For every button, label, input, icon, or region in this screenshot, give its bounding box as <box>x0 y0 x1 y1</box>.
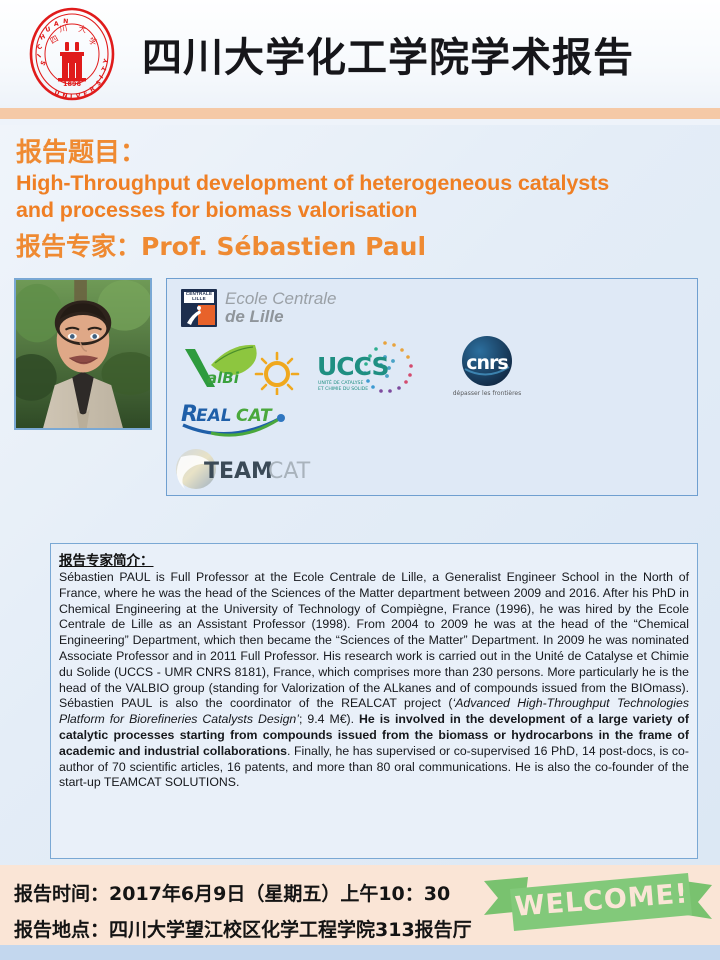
centrale-lille-mark-icon: CENTRALE LILLE <box>181 289 217 327</box>
svg-text:I: I <box>70 93 73 100</box>
svg-text:TEAM: TEAM <box>204 459 273 484</box>
ecole-centrale-line1: Ecole Centrale <box>225 290 337 307</box>
svg-text:V: V <box>75 93 81 100</box>
svg-text:alBi: alBi <box>207 369 240 387</box>
svg-text:EAL: EAL <box>196 406 232 426</box>
svg-text:Y: Y <box>102 58 111 66</box>
topic-line-1: High-Throughput development of heterogen… <box>16 170 704 197</box>
sichuan-university-seal-icon: 1896 S I C H U A N U N I V E R S I <box>24 6 120 102</box>
realcat-logo: R EAL CAT <box>181 399 331 443</box>
speaker-line: 报告专家：Prof. Sébastien Paul <box>16 231 704 264</box>
welcome-ribbon: WELCOME! <box>482 871 714 939</box>
uccs-logo: UCCS UNITÉ DE CATALYSE ET CHIMIE DU SOLI… <box>315 337 425 397</box>
svg-text:H: H <box>39 33 47 42</box>
svg-text:I: I <box>36 53 43 59</box>
speaker-name: Prof. Sébastien Paul <box>141 232 426 261</box>
cnrs-logo: cnrs dépasser les frontières <box>439 335 535 401</box>
header-divider <box>0 108 720 119</box>
event-time: 报告时间：2017年6月9日（星期五）上午10：30 <box>14 879 450 906</box>
bio-paragraph-1: Sébastien PAUL is Full Professor at the … <box>59 570 689 710</box>
topic-line-2: and processes for biomass valorisation <box>16 197 704 224</box>
ecole-centrale-wordmark: Ecole Centrale de Lille <box>225 290 337 325</box>
bio-heading: 报告专家简介： <box>59 549 689 569</box>
event-location: 报告地点：四川大学望江校区化学工程学院313报告厅 <box>14 915 472 942</box>
ecole-centrale-de-lille-logo: CENTRALE LILLE Ecole Centrale de Lille <box>181 289 337 327</box>
logo-panel: CENTRALE LILLE Ecole Centrale de Lille <box>166 278 698 496</box>
svg-text:E: E <box>83 90 89 98</box>
media-section: CENTRALE LILLE Ecole Centrale de Lille <box>0 274 720 500</box>
svg-text:大: 大 <box>78 23 88 34</box>
speaker-bio-box: 报告专家简介： Sébastien PAUL is Full Professor… <box>50 543 698 859</box>
poster-header: 1896 S I C H U A N U N I V E R S I <box>0 0 720 108</box>
page-title: 四川大学化工学院学术报告 <box>142 25 634 83</box>
svg-text:UCCS: UCCS <box>317 352 388 381</box>
seminar-poster: 1896 S I C H U A N U N I V E R S I <box>0 0 720 960</box>
teamcat-logo: TEAM CAT <box>171 445 331 491</box>
topic-label: 报告题目： <box>16 137 704 170</box>
svg-text:1896: 1896 <box>63 80 82 88</box>
svg-text:C: C <box>36 43 44 52</box>
speaker-portrait <box>14 278 152 430</box>
svg-text:学: 学 <box>87 35 99 48</box>
ecole-centrale-line2: de Lille <box>225 308 337 325</box>
svg-text:U: U <box>45 26 52 34</box>
svg-text:cnrs: cnrs <box>466 352 508 374</box>
speaker-label: 报告专家： <box>16 232 141 261</box>
poster-footer: 报告时间：2017年6月9日（星期五）上午10：30 报告地点：四川大学望江校区… <box>0 865 720 945</box>
valbio-logo: alBi <box>181 339 307 395</box>
title-block: 报告题目： High-Throughput development of het… <box>0 125 720 268</box>
uccs-subtitle-2: ET CHIMIE DU SOLIDE <box>318 386 368 392</box>
cnrs-tagline: dépasser les frontières <box>453 390 521 397</box>
bottom-strip <box>0 945 720 960</box>
bio-body: Sébastien PAUL is Full Professor at the … <box>59 570 689 791</box>
bio-paragraph-2: ; 9.4 M€). <box>299 712 359 726</box>
centrale-mark-line2: LILLE <box>192 297 206 302</box>
svg-text:CAT: CAT <box>268 459 311 484</box>
svg-text:T: T <box>101 65 110 73</box>
